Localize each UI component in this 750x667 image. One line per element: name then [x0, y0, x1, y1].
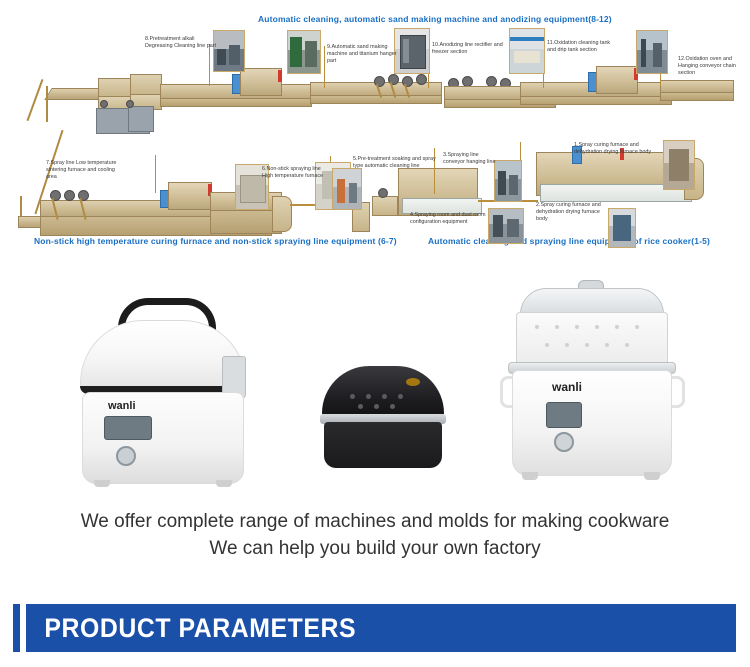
flowchart-caption-right: Automatic cleaning and spraying line equ… — [428, 236, 710, 246]
flow-node-label-9: 9.Automatic sand making machine and tita… — [327, 44, 399, 65]
cooker-control-panel — [546, 402, 582, 428]
control-dot — [350, 394, 355, 399]
photo-thumbnail — [394, 28, 430, 74]
photo-thumbnail — [488, 208, 524, 244]
flow-node-label-12: 12.Oxidation oven and Hanging conveyor c… — [678, 56, 746, 77]
control-dot — [382, 394, 387, 399]
cooker-body — [324, 422, 442, 468]
machine-block — [372, 196, 398, 216]
banner-bar: PRODUCT PARAMETERS — [26, 604, 736, 652]
support-post — [27, 79, 44, 121]
product-rice-cooker-right: wanli — [496, 280, 686, 496]
conveyor-frame — [310, 95, 442, 104]
flow-node-label-3: 3.Spraying line conveyor hanging line — [443, 152, 501, 166]
flow-node-label-2: 2.Spray curing furnace and dehydration d… — [536, 202, 612, 223]
cooker-foot — [94, 480, 110, 487]
brand-mark-icon — [406, 378, 420, 386]
cooker-foot — [522, 472, 538, 480]
conveyor-frame — [160, 98, 312, 107]
leader-line — [209, 44, 210, 86]
end-unit — [272, 196, 292, 232]
banner-title: PRODUCT PARAMETERS — [26, 613, 356, 644]
flow-node-label-1: 1.Spray curing furnace and dehydration d… — [574, 142, 652, 156]
roller — [100, 100, 108, 108]
roller — [64, 190, 75, 201]
photo-thumbnail — [287, 30, 321, 74]
machine-block — [130, 74, 162, 96]
tagline-line-1: We offer complete range of machines and … — [0, 508, 750, 535]
conveyor-frame — [660, 92, 734, 101]
control-dot — [390, 404, 395, 409]
leader-line — [434, 148, 435, 194]
photo-thumbnail — [332, 168, 362, 210]
tagline-block: We offer complete range of machines and … — [0, 508, 750, 562]
leader-line — [155, 155, 156, 193]
product-parameters-banner: PRODUCT PARAMETERS — [0, 604, 750, 652]
process-flowchart: Automatic cleaning, automatic sand makin… — [0, 0, 750, 258]
steamer-basket — [516, 312, 668, 366]
product-rice-cooker-middle — [318, 366, 448, 476]
photo-thumbnail — [636, 30, 668, 74]
flow-node-label-4: 4.Spraying room and dust room configurat… — [410, 212, 488, 226]
photo-thumbnail — [213, 30, 245, 72]
conveyor-frame — [520, 96, 672, 105]
cooker-brand-logo-left: wanli — [108, 400, 136, 412]
flowchart-top-title: Automatic cleaning, automatic sand makin… — [258, 14, 612, 24]
cooker-knob — [116, 446, 136, 466]
hanger-roller — [416, 74, 427, 85]
roller — [126, 100, 134, 108]
photo-thumbnail — [663, 140, 695, 190]
photo-thumbnail — [494, 160, 522, 202]
cooker-control-panel — [104, 416, 152, 440]
flow-node-label-10: 10.Anodizing line rectifier and freezer … — [432, 42, 504, 56]
flowchart-caption-left: Non-stick high temperature curing furnac… — [34, 236, 397, 246]
cooker-lid — [322, 366, 444, 418]
roller — [378, 188, 388, 198]
cooker-foot — [216, 480, 232, 487]
control-dot — [374, 404, 379, 409]
oven-unit — [168, 182, 212, 210]
tagline-line-2: We can help you build your own factory — [0, 535, 750, 562]
flow-node-label-6: 6.Non-stick spraying line High temperatu… — [262, 166, 326, 180]
cooker-brand-logo-right: wanli — [552, 380, 582, 394]
flow-node-label-5: 5.Pre-treatment soaking and spray type a… — [353, 156, 437, 170]
product-rice-cooker-left: wanli — [72, 298, 258, 498]
banner-accent-tick — [13, 604, 20, 652]
flow-node-label-8: 8.Pretreatment alkali Degreasing Cleanin… — [145, 36, 217, 50]
control-dot — [366, 394, 371, 399]
flow-node-label-7: 7.Spray line Low temperature sintering f… — [46, 160, 122, 181]
product-photo-row: wanli — [0, 258, 750, 488]
oven-unit — [240, 68, 282, 96]
cooker-knob — [554, 432, 574, 452]
cooker-body — [512, 370, 672, 476]
cooker-foot — [644, 472, 660, 480]
support-post — [46, 86, 48, 122]
control-dot — [358, 404, 363, 409]
leader-line — [324, 46, 325, 88]
flow-node-label-11: 11.Oxidation cleaning tank and drip tank… — [547, 40, 619, 54]
photo-thumbnail — [509, 28, 545, 74]
control-dot — [398, 394, 403, 399]
oven-unit — [596, 66, 638, 94]
equipment-cabinet — [128, 106, 154, 132]
indicator-box — [278, 70, 282, 82]
machine-block — [98, 78, 132, 98]
photo-thumbnail — [608, 208, 636, 248]
